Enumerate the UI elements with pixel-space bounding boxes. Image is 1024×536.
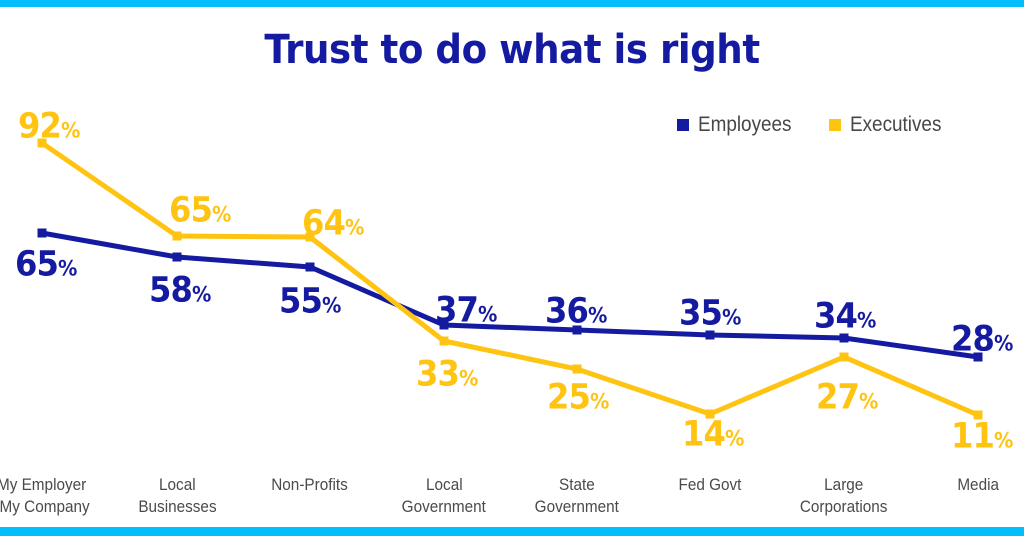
data-label-percent-sign: % [857, 309, 876, 333]
data-label-executives-2: 64% [302, 207, 364, 242]
data-label-value: 55 [279, 282, 322, 322]
data-label-executives-6: 27% [816, 381, 878, 416]
data-label-value: 28 [951, 320, 994, 360]
data-label-value: 36 [545, 292, 588, 332]
data-label-percent-sign: % [994, 429, 1013, 453]
data-point-marker[interactable] [573, 365, 582, 374]
data-label-executives-5: 14% [682, 418, 744, 453]
data-label-percent-sign: % [192, 283, 211, 307]
data-label-employees-7: 28% [951, 323, 1013, 358]
data-label-executives-7: 11% [951, 420, 1013, 455]
data-point-marker[interactable] [173, 253, 182, 262]
data-label-percent-sign: % [722, 306, 741, 330]
data-label-executives-1: 65% [169, 194, 231, 229]
chart-legend: Employees Executives [677, 114, 952, 135]
x-axis-label-0: My Employer/My Company [0, 474, 117, 518]
data-label-percent-sign: % [345, 216, 364, 240]
legend-label-employees: Employees [698, 114, 792, 135]
data-label-value: 92 [18, 107, 61, 147]
data-point-marker[interactable] [840, 353, 849, 362]
bottom-accent-bar [0, 527, 1024, 536]
data-label-executives-0: 92% [18, 110, 80, 145]
data-label-executives-3: 33% [416, 358, 478, 393]
x-axis-label-1: LocalBusinesses [102, 474, 252, 518]
chart-page: Trust to do what is right Employees Exec… [0, 0, 1024, 536]
legend-item-executives[interactable]: Executives [829, 114, 952, 135]
data-label-percent-sign: % [588, 304, 607, 328]
data-label-percent-sign: % [212, 203, 231, 227]
x-axis-label-7: Media [903, 474, 1024, 496]
plot-area [0, 0, 1024, 536]
legend-item-employees[interactable]: Employees [677, 114, 802, 135]
data-label-percent-sign: % [994, 332, 1013, 356]
data-label-percent-sign: % [859, 390, 878, 414]
data-point-marker[interactable] [440, 337, 449, 346]
data-label-percent-sign: % [725, 427, 744, 451]
data-label-percent-sign: % [58, 257, 77, 281]
data-label-value: 65 [169, 191, 212, 231]
data-label-employees-0: 65% [15, 248, 77, 283]
legend-swatch-executives [829, 119, 841, 131]
data-label-percent-sign: % [322, 294, 341, 318]
data-label-value: 25 [547, 378, 590, 418]
x-axis-label-3: LocalGovernment [369, 474, 519, 518]
data-label-value: 65 [15, 245, 58, 285]
data-label-value: 64 [302, 204, 345, 244]
x-axis-label-4: StateGovernment [502, 474, 652, 518]
data-label-executives-4: 25% [547, 381, 609, 416]
page-title: Trust to do what is right [36, 28, 988, 72]
data-label-employees-4: 36% [545, 295, 607, 330]
x-axis-label-5: Fed Govt [635, 474, 785, 496]
data-point-marker[interactable] [173, 232, 182, 241]
x-axis-label-6: LargeCorporations [769, 474, 919, 518]
top-accent-bar [0, 0, 1024, 7]
data-label-percent-sign: % [61, 119, 80, 143]
data-label-employees-5: 35% [679, 297, 741, 332]
data-label-percent-sign: % [590, 390, 609, 414]
x-axis-label-2: Non-Profits [235, 474, 385, 496]
data-label-value: 37 [435, 291, 478, 331]
data-label-value: 58 [149, 271, 192, 311]
data-label-percent-sign: % [459, 367, 478, 391]
data-label-value: 14 [682, 415, 725, 455]
data-label-percent-sign: % [478, 303, 497, 327]
data-label-employees-3: 37% [435, 294, 497, 329]
data-point-marker[interactable] [38, 229, 47, 238]
data-label-value: 27 [816, 378, 859, 418]
data-label-employees-2: 55% [279, 285, 341, 320]
data-label-employees-1: 58% [149, 274, 211, 309]
data-label-value: 34 [814, 297, 857, 337]
legend-label-executives: Executives [850, 114, 941, 135]
legend-swatch-employees [677, 119, 689, 131]
data-point-marker[interactable] [306, 263, 315, 272]
data-label-value: 35 [679, 294, 722, 334]
data-label-employees-6: 34% [814, 300, 876, 335]
data-label-value: 33 [416, 355, 459, 395]
line-chart-svg [0, 0, 1024, 536]
data-label-value: 11 [951, 417, 994, 457]
